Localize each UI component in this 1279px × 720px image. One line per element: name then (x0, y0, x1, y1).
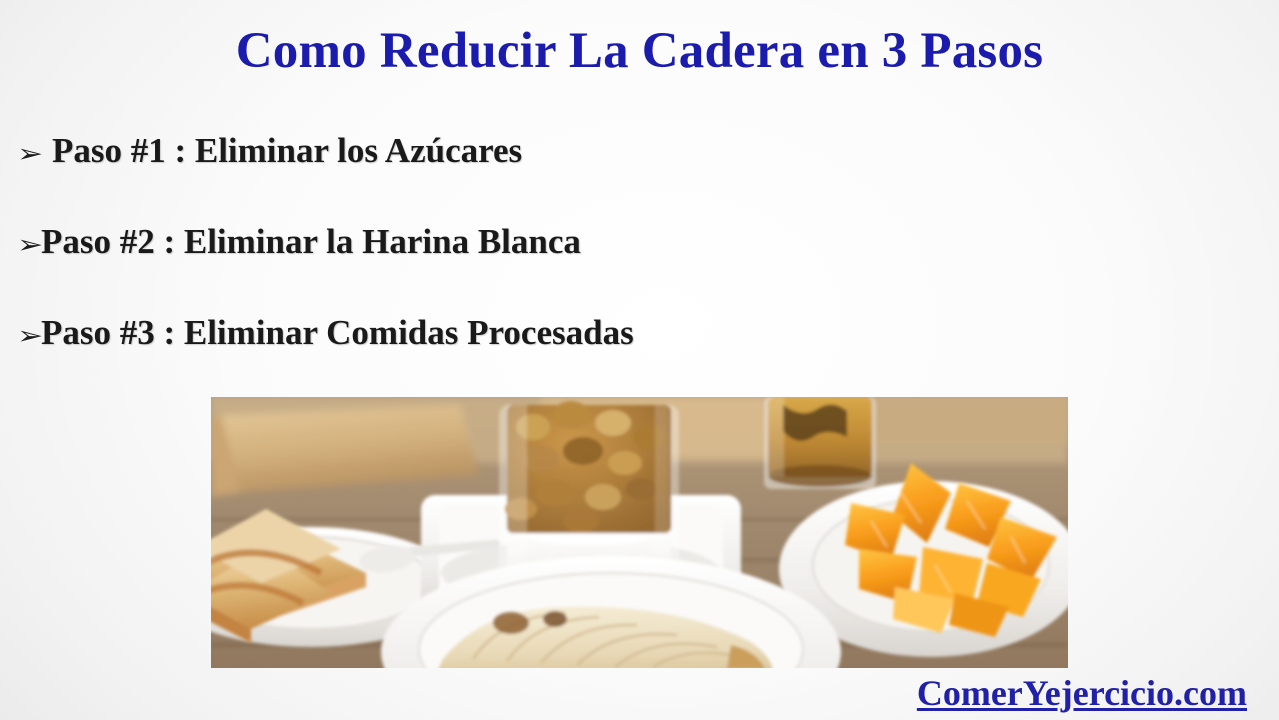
arrow-bullet-icon: ➢ (17, 141, 43, 166)
list-item: ➢ Paso #3 : Eliminar Comidas Procesadas (17, 313, 917, 404)
slide-canvas: Como Reducir La Cadera en 3 Pasos ➢ Paso… (0, 0, 1279, 720)
steps-list: ➢ Paso #1 : Eliminar los Azúcares ➢ Paso… (17, 131, 917, 404)
step-1-label: Paso #1 : Eliminar los Azúcares (38, 131, 522, 171)
arrow-bullet-icon: ➢ (17, 323, 43, 348)
arrow-bullet-icon: ➢ (17, 232, 43, 257)
page-title: Como Reducir La Cadera en 3 Pasos (0, 22, 1279, 80)
step-2-label: Paso #2 : Eliminar la Harina Blanca (38, 222, 581, 262)
breakfast-photo (211, 397, 1068, 668)
website-link[interactable]: ComerYejercicio.com (917, 672, 1247, 714)
step-3-label: Paso #3 : Eliminar Comidas Procesadas (38, 313, 634, 353)
list-item: ➢ Paso #2 : Eliminar la Harina Blanca (17, 222, 917, 313)
breakfast-photo-graphic (211, 397, 1068, 668)
list-item: ➢ Paso #1 : Eliminar los Azúcares (17, 131, 917, 222)
